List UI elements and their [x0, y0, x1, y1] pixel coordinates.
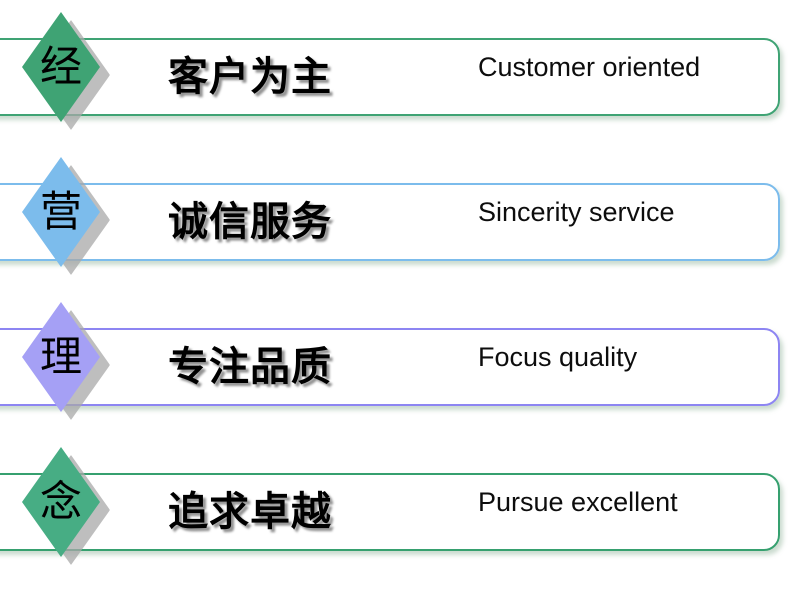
chinese-label: 专注品质: [168, 334, 468, 392]
diagram-canvas: 经 客户为主 Customer oriented 营 诚信服务 Sincerit…: [0, 0, 800, 600]
value-row[interactable]: 理 专注品质 Focus quality: [0, 290, 800, 435]
diamond-badge-label: 理: [40, 336, 82, 378]
value-row[interactable]: 念 追求卓越 Pursue excellent: [0, 435, 800, 580]
value-row[interactable]: 营 诚信服务 Sincerity service: [0, 145, 800, 290]
chinese-label: 诚信服务: [168, 189, 468, 247]
english-label: Sincerity service: [478, 197, 778, 228]
chinese-label: 客户为主: [168, 44, 468, 102]
diamond-badge-label: 经: [40, 46, 82, 88]
english-label: Pursue excellent: [478, 487, 778, 518]
diamond-badge-label: 营: [40, 191, 82, 233]
chinese-label: 追求卓越: [168, 479, 468, 537]
english-label: Customer oriented: [478, 52, 778, 83]
value-row[interactable]: 经 客户为主 Customer oriented: [0, 0, 800, 145]
diamond-badge-label: 念: [40, 481, 82, 523]
english-label: Focus quality: [478, 342, 778, 373]
